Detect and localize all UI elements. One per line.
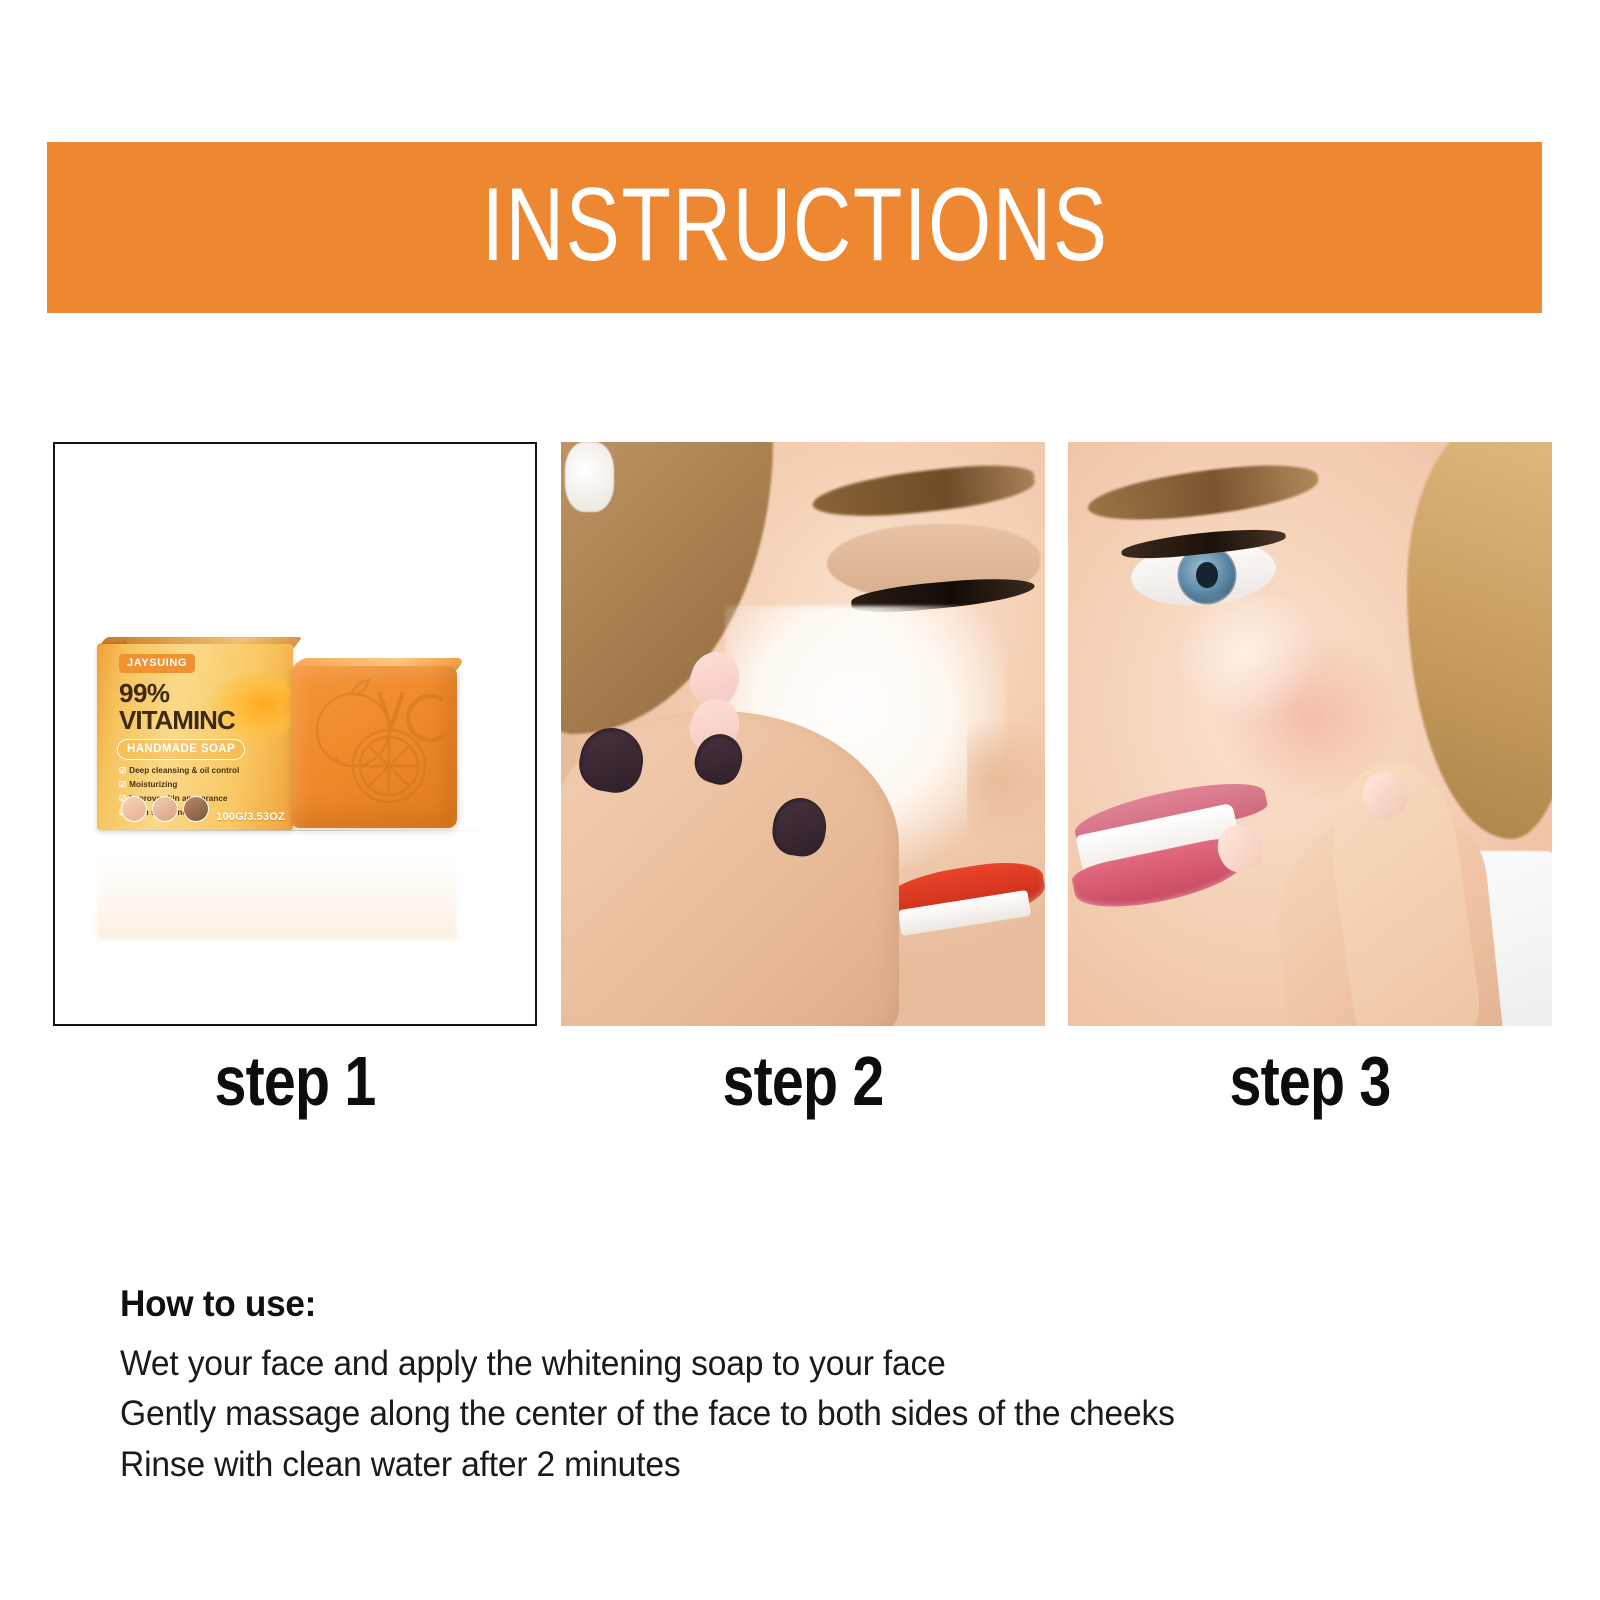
- how-to-use-heading: How to use:: [120, 1283, 1374, 1325]
- product-type-label: HANDMADE SOAP: [117, 739, 245, 760]
- lifestyle-thumb: [183, 796, 209, 822]
- ingredient-label: VITAMINC: [119, 707, 235, 733]
- soap-bar: [291, 666, 457, 828]
- step-3-caption: step 3: [1112, 1046, 1509, 1136]
- step-2-image: [561, 442, 1045, 1026]
- product-reflection: [97, 830, 457, 940]
- page-title: INSTRUCTIONS: [481, 173, 1108, 283]
- hair-accessory: [565, 442, 613, 512]
- soap-emboss-vc-orange-icon: [291, 666, 457, 828]
- how-to-use-line: Rinse with clean water after 2 minutes: [120, 1440, 1387, 1490]
- skin-highlight: [1174, 594, 1319, 722]
- photo-glowing-skin: [1068, 442, 1552, 1026]
- step-3-image: [1068, 442, 1552, 1026]
- photo-applying-soap: [561, 442, 1045, 1026]
- how-to-use-line: Gently massage along the center of the f…: [120, 1389, 1387, 1439]
- instructions-infographic: INSTRUCTIONS JAYSUING 99% VITAMINC HANDM…: [0, 0, 1600, 1600]
- step-1-caption: step 1: [97, 1046, 494, 1136]
- net-weight-label: 100G/3.53OZ: [216, 811, 285, 823]
- header-banner: INSTRUCTIONS: [47, 142, 1542, 313]
- lifestyle-thumb: [121, 796, 147, 822]
- product-box: JAYSUING 99% VITAMINC HANDMADE SOAP Deep…: [97, 644, 293, 830]
- benefit-item: Deep cleansing & oil control: [119, 764, 269, 778]
- benefit-item: Moisturizing: [119, 778, 269, 792]
- pupil: [1196, 562, 1218, 588]
- step-1-image: JAYSUING 99% VITAMINC HANDMADE SOAP Deep…: [53, 442, 537, 1026]
- how-to-use-section: How to use: Wet your face and apply the …: [120, 1283, 1440, 1490]
- steps-row: JAYSUING 99% VITAMINC HANDMADE SOAP Deep…: [53, 442, 1552, 1026]
- product-stage: JAYSUING 99% VITAMINC HANDMADE SOAP Deep…: [55, 444, 535, 1024]
- nose: [967, 716, 1044, 844]
- lifestyle-thumb: [152, 796, 178, 822]
- step-2-caption: step 2: [604, 1046, 1001, 1136]
- step-captions: step 1 step 2 step 3: [53, 1046, 1552, 1136]
- lifestyle-thumbnails: [121, 796, 209, 822]
- how-to-use-line: Wet your face and apply the whitening so…: [120, 1339, 1387, 1389]
- brand-label: JAYSUING: [119, 654, 195, 673]
- percent-label: 99%: [119, 680, 170, 706]
